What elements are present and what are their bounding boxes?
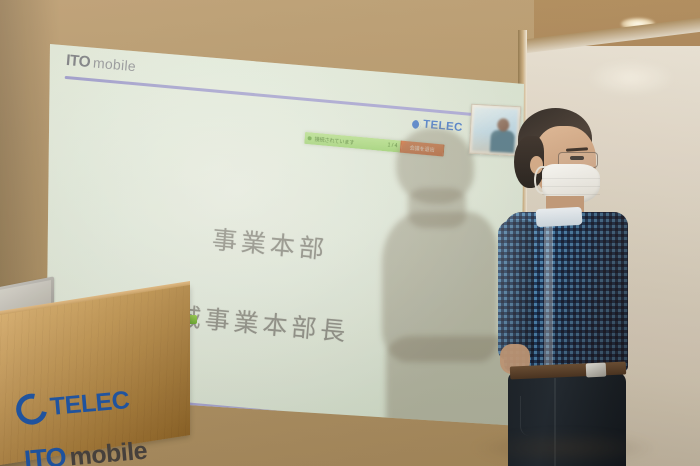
vc-leave-button-label: 会議を退出: [409, 144, 434, 153]
vc-status-dot-icon: [307, 136, 311, 140]
slide-title: 事業本部: [211, 220, 329, 266]
slide-brand-header: ITOmobile: [65, 52, 136, 76]
belt-buckle: [586, 363, 607, 378]
photo-scene: ITOmobile TELEC 接続されています 1 / 4 会議を退出 事業本…: [0, 0, 700, 466]
presenter-arm: [498, 220, 534, 360]
slide-brand-mobile: mobile: [92, 54, 136, 74]
vc-status-label: 接続されています: [314, 135, 354, 146]
arm-shading: [498, 220, 534, 360]
vc-participant-count: 1 / 4: [387, 142, 397, 149]
video-conference-toolbar[interactable]: 接続されています 1 / 4 会議を退出: [304, 132, 444, 157]
telec-logo-text: TELEC: [423, 119, 464, 135]
podium-mobile-text: mobile: [68, 437, 148, 466]
slide-telec-logo: TELEC: [412, 118, 463, 135]
slide-header-rule: [65, 76, 499, 119]
telec-circle-mark-icon: [412, 119, 422, 129]
shirt-collar: [536, 207, 583, 227]
vc-status-area: 接続されています 1 / 4: [304, 132, 401, 153]
wall-light-glow: [586, 60, 676, 96]
vc-leave-button[interactable]: 会議を退出: [400, 140, 445, 157]
floor-shadow: [470, 430, 660, 466]
podium-ito-text: ITO: [23, 442, 67, 466]
podium-telec-text: TELEC: [49, 386, 131, 422]
presenter: [494, 108, 634, 466]
slide-subtitle: 城事業本部長: [175, 297, 351, 349]
slide-brand-ito: ITO: [65, 52, 90, 71]
